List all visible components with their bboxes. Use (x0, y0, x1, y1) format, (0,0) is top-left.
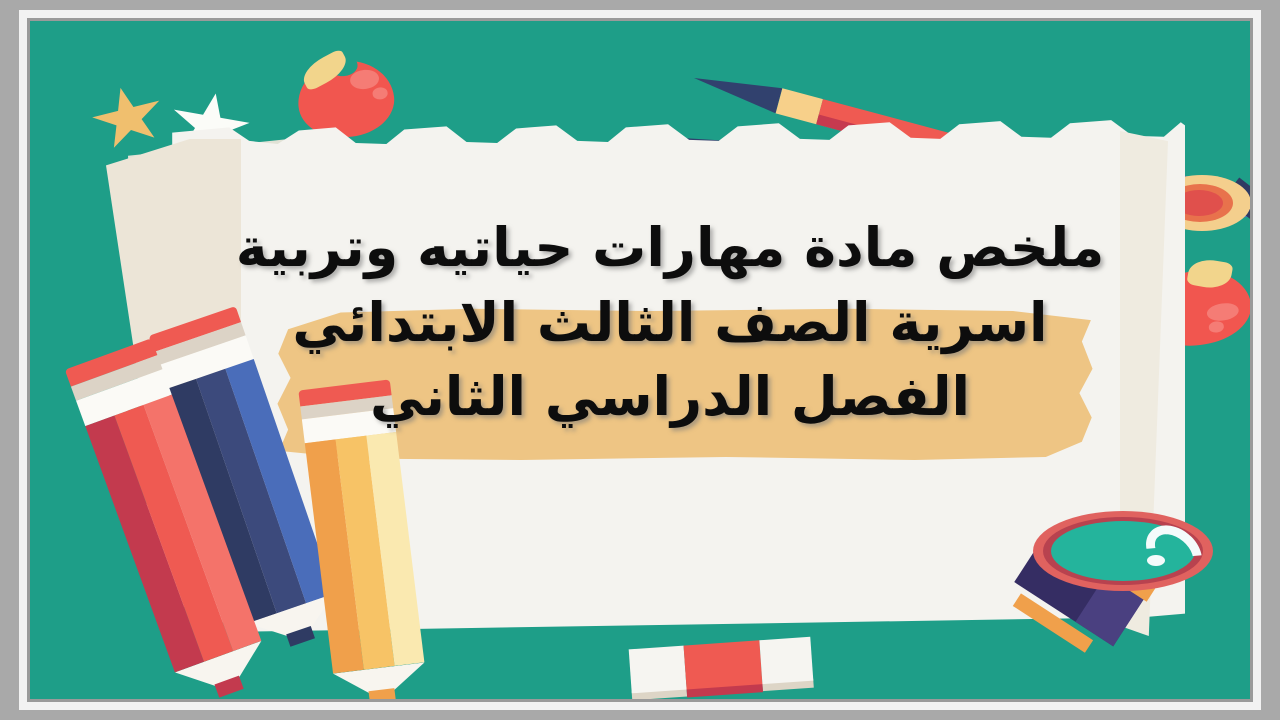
magnifier-glare-small (1147, 555, 1165, 566)
teal-board-background: ملخص مادة مهارات حياتيه وتربية اسرية الص… (30, 21, 1250, 699)
pencil-nib (369, 688, 396, 699)
eraser-center-segment (683, 640, 762, 689)
page-title: ملخص مادة مهارات حياتيه وتربية اسرية الص… (210, 211, 1130, 435)
poster-canvas: ملخص مادة مهارات حياتيه وتربية اسرية الص… (0, 0, 1280, 720)
magnifier-icon (1005, 511, 1220, 671)
eraser-left-segment (629, 646, 687, 694)
eraser-right-segment (759, 637, 813, 684)
